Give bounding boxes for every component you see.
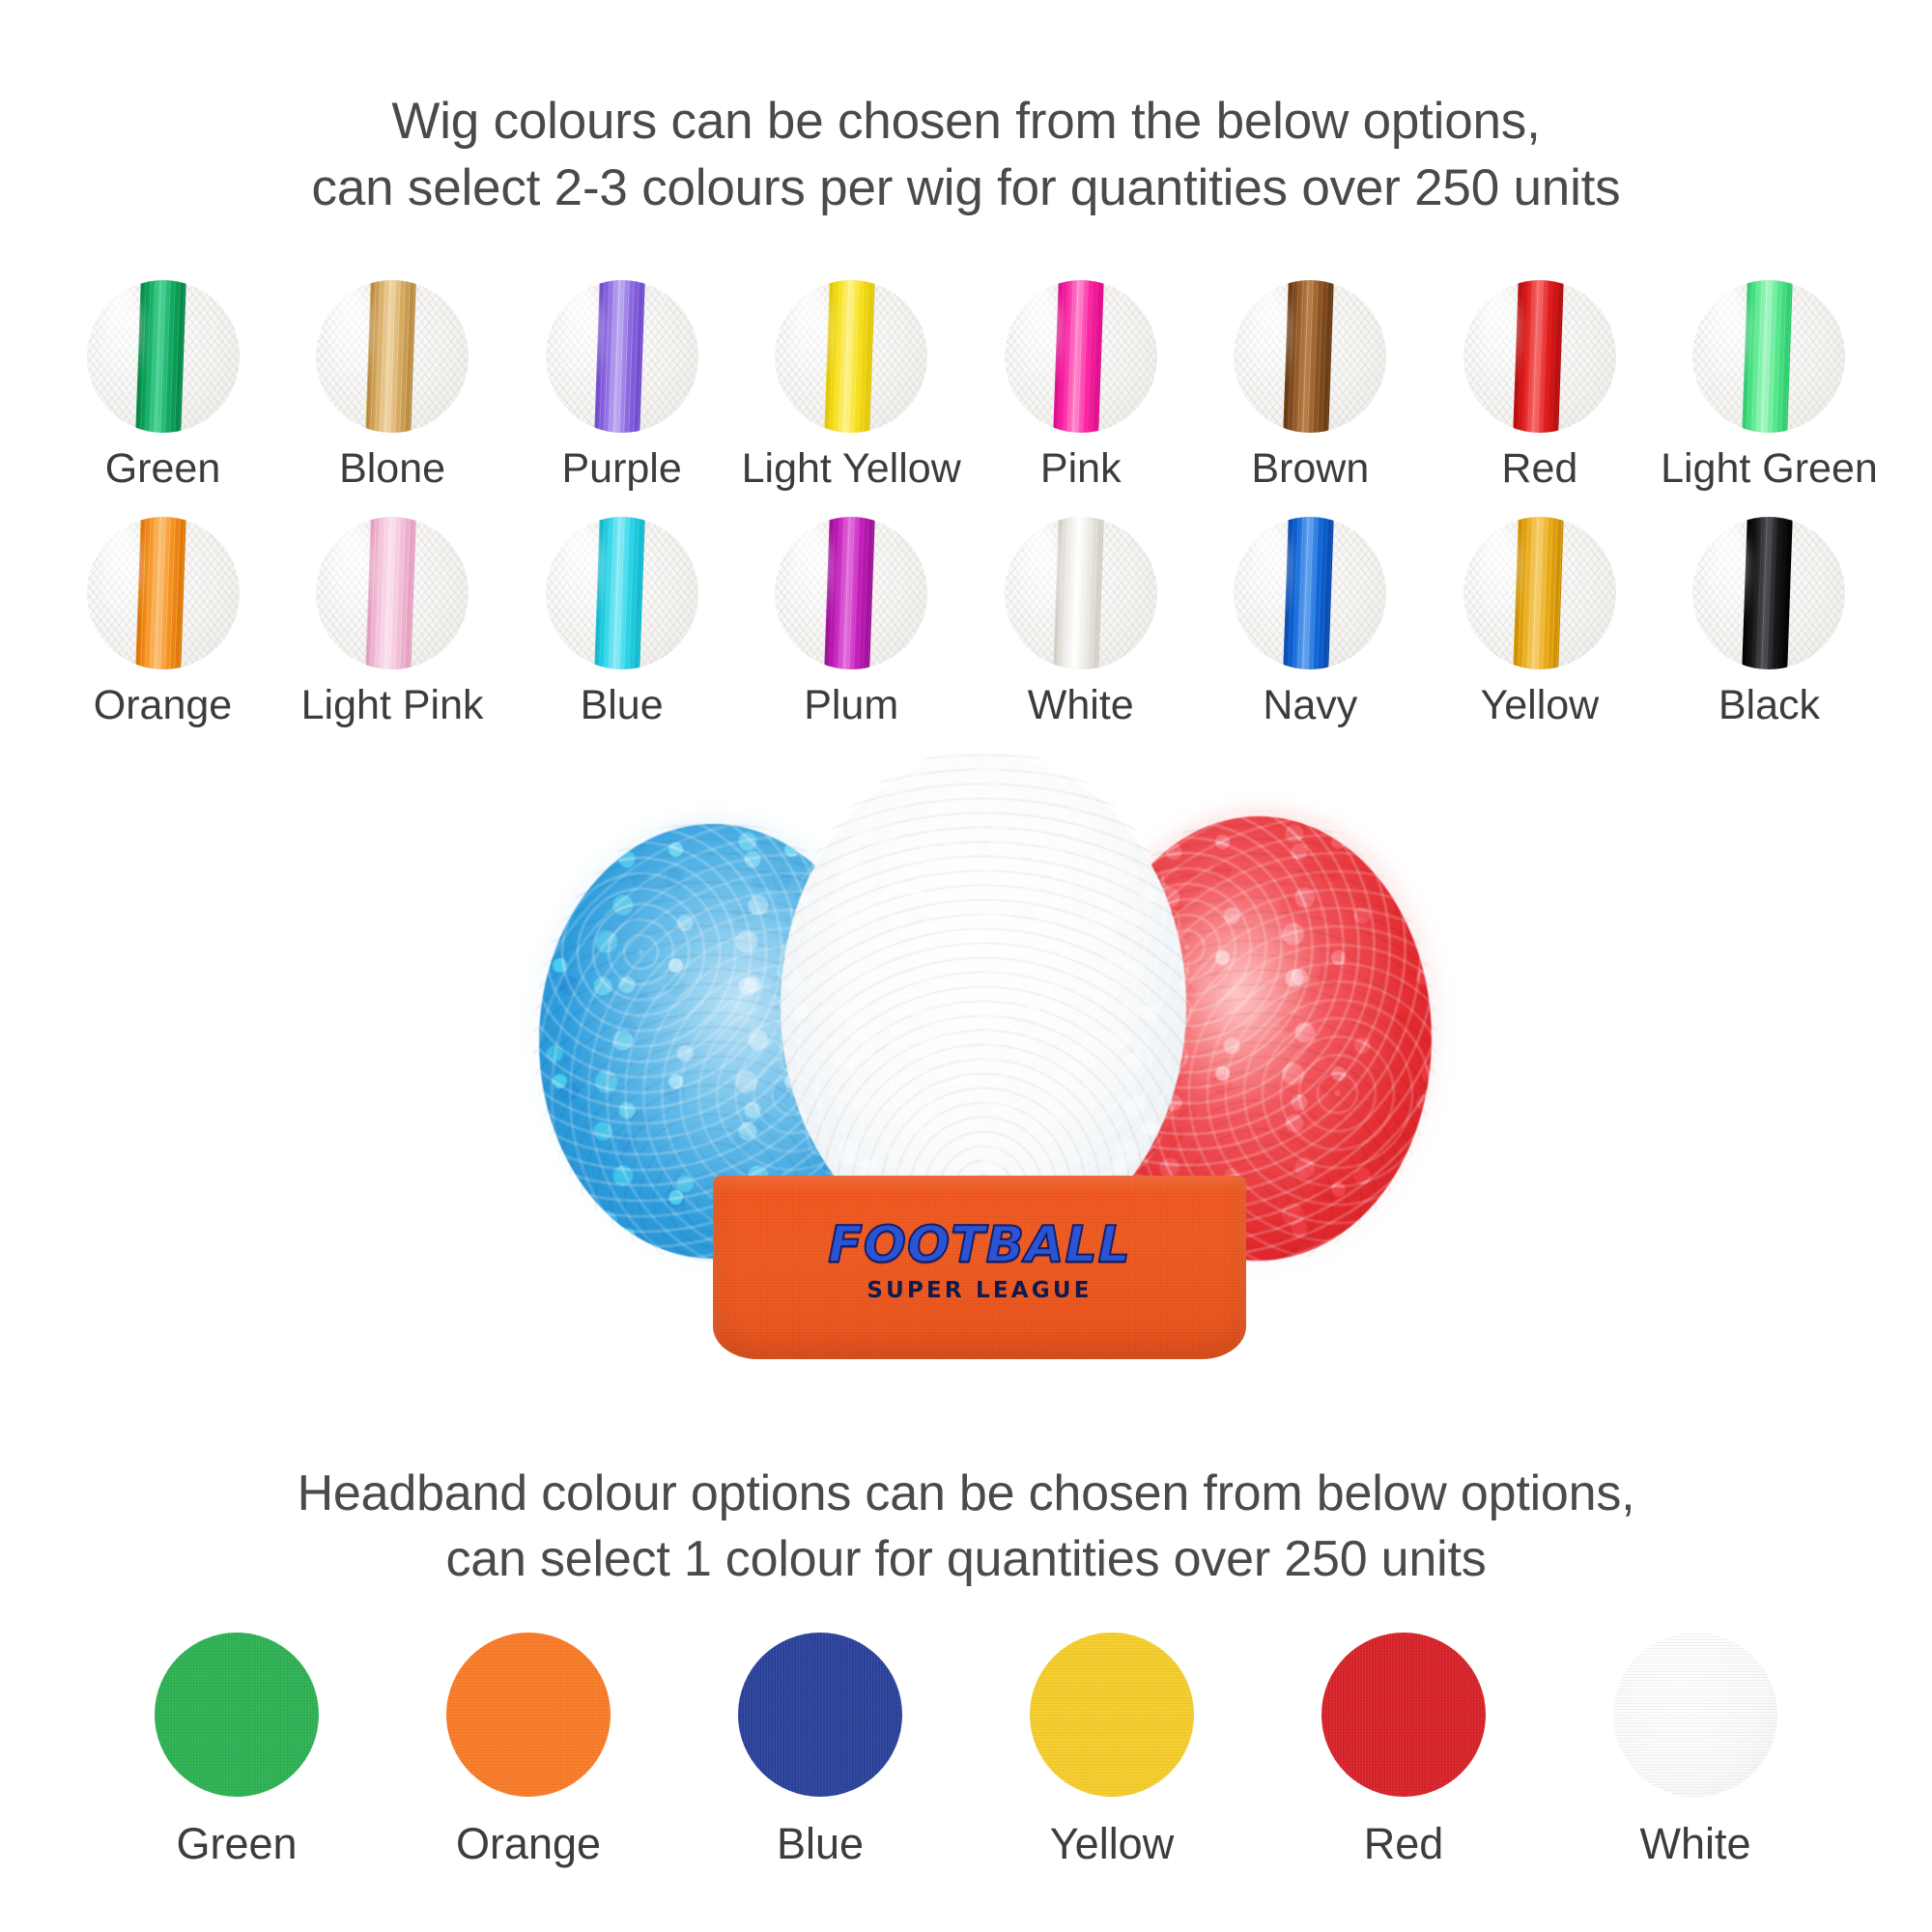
wig-colour-swatch-row-1: GreenBlonePurpleLight YellowPinkBrownRed… [48, 280, 1884, 490]
wig-colour-swatch-image [1463, 517, 1616, 669]
swatch-gloss [1020, 523, 1060, 630]
wig-colour-swatch-row-2: OrangeLight PinkBluePlumWhiteNavyYellowB… [48, 517, 1884, 726]
wig-colour-label: Black [1719, 685, 1820, 726]
headband-colour-label: White [1639, 1822, 1750, 1865]
wig-colour-swatch-image [1692, 517, 1845, 669]
headband-colours-heading: Headband colour options can be chosen fr… [0, 1462, 1932, 1592]
hair-strand [824, 517, 876, 669]
product-photo-wig: FOOTBALL SUPER LEAGUE [522, 749, 1449, 1415]
wig-colour-label: Light Green [1661, 448, 1878, 490]
hair-strand [1283, 517, 1335, 669]
headband-colour-swatch [446, 1633, 611, 1797]
headband-colour-option-blue[interactable]: Blue [699, 1633, 941, 1865]
wig-colour-label: Blone [339, 448, 445, 490]
wig-colour-label: Red [1501, 448, 1577, 490]
swatch-gloss [1708, 286, 1747, 393]
headband-colour-swatch [155, 1633, 319, 1797]
wig-colour-swatch-image [316, 280, 469, 433]
wig-heading-line-2: can select 2-3 colours per wig for quant… [0, 156, 1932, 222]
swatch-gloss [790, 523, 830, 630]
wig-colour-option-light-yellow[interactable]: Light Yellow [737, 280, 966, 490]
wig-colour-option-black[interactable]: Black [1655, 517, 1884, 726]
headband-colour-swatch [738, 1633, 902, 1797]
wig-colour-swatch-image [775, 280, 927, 433]
hair-strand [594, 280, 646, 433]
wig-colour-label: Orange [94, 685, 232, 726]
hair-strand [594, 517, 646, 669]
swatch-gloss [331, 286, 371, 393]
wig-colour-swatch-image [546, 280, 698, 433]
wig-colour-option-red[interactable]: Red [1425, 280, 1654, 490]
swatch-gloss [331, 523, 371, 630]
headband-colour-label: Red [1364, 1822, 1444, 1865]
wig-colour-swatch-image [87, 280, 240, 433]
wig-colour-swatch-image [1234, 517, 1386, 669]
headband-colour-swatch [1613, 1633, 1777, 1797]
wig-colour-swatch-image [1005, 280, 1157, 433]
hair-strand [1512, 517, 1564, 669]
headband-fabric-texture [1321, 1633, 1486, 1797]
wig-colour-option-blone[interactable]: Blone [278, 280, 507, 490]
wig-colour-swatch-image [316, 517, 469, 669]
headband-colour-label: Green [176, 1822, 297, 1865]
swatch-gloss [1479, 523, 1519, 630]
headband-fabric-texture [1030, 1633, 1194, 1797]
swatch-gloss [560, 523, 600, 630]
wig-colour-option-light-green[interactable]: Light Green [1655, 280, 1884, 490]
headband-colour-label: Blue [777, 1822, 864, 1865]
wig-colour-label: Light Pink [301, 685, 484, 726]
hair-strand [1742, 517, 1794, 669]
swatch-gloss [1708, 523, 1747, 630]
swatch-gloss [1249, 523, 1289, 630]
wig-colour-label: Light Yellow [742, 448, 961, 490]
swatch-gloss [560, 286, 600, 393]
headband-fabric-texture [155, 1633, 319, 1797]
swatch-gloss [790, 286, 830, 393]
wig-colour-label: Purple [561, 448, 681, 490]
wig-colour-option-plum[interactable]: Plum [737, 517, 966, 726]
hair-strand [1053, 280, 1105, 433]
wig-heading-line-1: Wig colours can be chosen from the below… [0, 89, 1932, 156]
wig-colour-option-light-pink[interactable]: Light Pink [278, 517, 507, 726]
wig-colour-label: Plum [804, 685, 898, 726]
hair-strand [1512, 280, 1564, 433]
hair-strand [1283, 280, 1335, 433]
headband-colour-option-white[interactable]: White [1575, 1633, 1816, 1865]
headband-logo-subtitle: SUPER LEAGUE [713, 1278, 1246, 1303]
headband-colour-options-row: GreenOrangeBlueYellowRedWhite [116, 1633, 1816, 1865]
wig-colour-swatch-image [87, 517, 240, 669]
wig-colour-option-white[interactable]: White [966, 517, 1195, 726]
swatch-gloss [1479, 286, 1519, 393]
headband-fabric-texture [446, 1633, 611, 1797]
wig-colour-swatch-image [1005, 517, 1157, 669]
wig-colour-swatch-image [546, 517, 698, 669]
wig-colour-option-purple[interactable]: Purple [507, 280, 736, 490]
headband-fabric-texture [1613, 1633, 1777, 1797]
product-options-infographic: Wig colours can be chosen from the below… [0, 0, 1932, 1932]
headband-fabric-texture [738, 1633, 902, 1797]
wig-colour-swatch-image [1463, 280, 1616, 433]
headband-colour-option-green[interactable]: Green [116, 1633, 357, 1865]
wig-colour-option-orange[interactable]: Orange [48, 517, 277, 726]
headband-colour-option-orange[interactable]: Orange [408, 1633, 649, 1865]
hair-strand [1742, 280, 1794, 433]
wig-colour-option-brown[interactable]: Brown [1196, 280, 1425, 490]
wig-colour-option-green[interactable]: Green [48, 280, 277, 490]
wig-colour-swatch-image [1692, 280, 1845, 433]
wig-colour-swatch-image [1234, 280, 1386, 433]
wig-colour-label: White [1028, 685, 1134, 726]
swatch-gloss [1020, 286, 1060, 393]
hair-strand [1053, 517, 1105, 669]
headband-colour-label: Orange [456, 1822, 601, 1865]
headband-colour-label: Yellow [1050, 1822, 1174, 1865]
wig-colour-label: Yellow [1481, 685, 1600, 726]
headband-heading-line-1: Headband colour options can be chosen fr… [0, 1462, 1932, 1527]
headband-logo-title: FOOTBALL [713, 1216, 1246, 1274]
wig-colour-option-pink[interactable]: Pink [966, 280, 1195, 490]
headband-colour-option-red[interactable]: Red [1283, 1633, 1524, 1865]
headband-colour-swatch [1030, 1633, 1194, 1797]
wig-colour-label: Blue [581, 685, 664, 726]
hair-strand [135, 517, 187, 669]
wig-colour-label: Brown [1251, 448, 1369, 490]
headband: FOOTBALL SUPER LEAGUE [713, 1176, 1246, 1359]
hair-strand [365, 280, 417, 433]
wig-colour-label: Navy [1263, 685, 1357, 726]
hair-strand [135, 280, 187, 433]
wig-colour-option-yellow[interactable]: Yellow [1425, 517, 1654, 726]
wig-colours-heading: Wig colours can be chosen from the below… [0, 89, 1932, 222]
wig-colour-option-blue[interactable]: Blue [507, 517, 736, 726]
headband-colour-option-yellow[interactable]: Yellow [991, 1633, 1233, 1865]
hair-strand [365, 517, 417, 669]
wig-colour-label: Pink [1040, 448, 1122, 490]
wig-colour-option-navy[interactable]: Navy [1196, 517, 1425, 726]
swatch-gloss [1249, 286, 1289, 393]
headband-colour-swatch [1321, 1633, 1486, 1797]
wig-colour-swatch-image [775, 517, 927, 669]
hair-strand [824, 280, 876, 433]
wig-colour-label: Green [105, 448, 221, 490]
headband-heading-line-2: can select 1 colour for quantities over … [0, 1527, 1932, 1593]
